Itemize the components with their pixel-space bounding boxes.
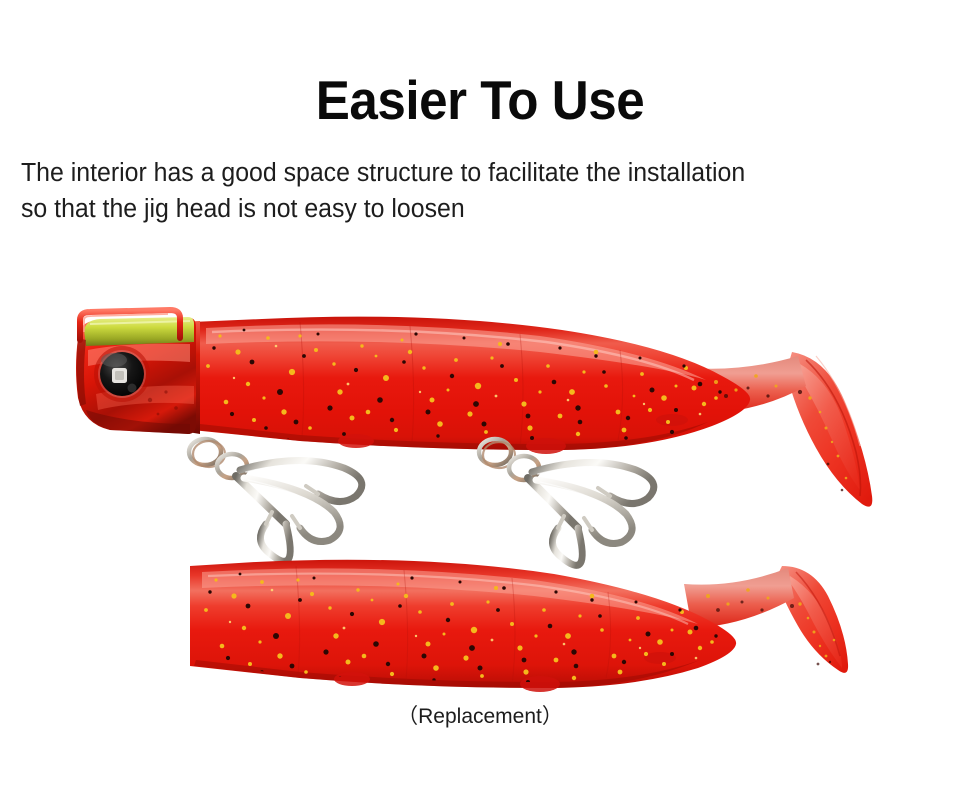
hook-barb-c-front	[266, 512, 272, 524]
product-infographic-page: Easier To Use The interior has a good sp…	[0, 0, 960, 810]
front-treble-hook	[189, 439, 362, 561]
hook-shank-front	[236, 476, 286, 524]
hook-point-c-rear	[552, 528, 582, 565]
head-shadow-bottom	[86, 410, 190, 434]
body-gloss-line-replacement	[208, 574, 688, 624]
eye-square-highlight	[112, 368, 127, 383]
paddle-tail-highlight-replacement	[788, 576, 842, 668]
body-segment-seams-replacement	[296, 566, 611, 685]
replacement-body-graphic	[190, 560, 848, 692]
paddle-tail-fold-replacement	[796, 572, 840, 656]
tail-dark-flakes	[724, 387, 843, 492]
belly-nub-tail	[656, 414, 688, 426]
body-bottom-shadow	[196, 422, 708, 450]
belly-nub-front	[338, 434, 374, 448]
description-line-1: The interior has a good space structure …	[21, 155, 923, 191]
hook-point-a-rear	[532, 462, 654, 503]
page-title: Easier To Use	[34, 72, 927, 128]
caudal-peduncle	[690, 356, 806, 414]
belly-nub-rear-replacement	[520, 676, 560, 692]
description-line-2: so that the jig head is not easy to loos…	[21, 191, 923, 227]
chartreuse-strip-gloss	[90, 321, 190, 324]
belly-nub-tail-replacement	[644, 652, 676, 664]
hook-point-b-front	[244, 478, 340, 542]
body-top-highlight	[206, 324, 706, 380]
belly-nub-rear	[526, 438, 566, 454]
page-description: The interior has a good space structure …	[21, 155, 923, 227]
eye-lower-reflection	[128, 384, 137, 393]
paddle-tail-fold-line	[806, 360, 861, 496]
hook-barb-c-rear	[558, 516, 564, 528]
hook-barb-a-rear	[598, 488, 610, 496]
head-speckles	[148, 390, 178, 415]
soft-body-shape	[192, 317, 750, 450]
replacement-caption: （Replacement）	[0, 700, 960, 730]
rear-treble-hook	[479, 439, 654, 565]
body-top-highlight-replacement	[202, 568, 698, 624]
hook-point-a-front	[240, 460, 362, 501]
paddle-tail-highlight	[798, 364, 860, 490]
tail-dark-flakes-replacement	[716, 601, 831, 666]
hook-barb-b-front	[292, 516, 300, 528]
body-segment-seams	[300, 322, 623, 447]
body-glitter-flakes	[206, 329, 722, 442]
eye-pupil	[100, 352, 144, 396]
paddle-tail-sheen	[816, 356, 860, 446]
eye-top-reflection	[101, 353, 127, 367]
paddle-tail-replacement	[776, 566, 848, 673]
belly-nub-front-replacement	[334, 672, 370, 686]
head-shell	[76, 318, 196, 434]
red-wire-line-tie-loop	[80, 310, 180, 340]
paddle-tail-assembled	[786, 352, 872, 507]
split-ring-rear	[479, 439, 511, 465]
hook-point-c-front	[260, 524, 290, 561]
tail-glitter-flakes-replacement	[706, 588, 835, 657]
caudal-peduncle-replacement	[684, 568, 794, 628]
eye-socket	[94, 346, 150, 402]
split-ring-front	[189, 439, 221, 465]
body-gloss-line	[212, 330, 694, 380]
head-gloss-top	[88, 344, 190, 366]
lure-body-assembled	[192, 317, 872, 507]
lure-eye	[94, 346, 150, 402]
head-gloss-lower	[96, 386, 194, 410]
hook-barb-b-rear	[584, 518, 592, 530]
jig-head	[76, 310, 200, 434]
hook-shank-rear	[528, 478, 578, 528]
eye-rim	[98, 350, 146, 398]
body-glitter-flakes-replacement	[204, 573, 718, 686]
body-bottom-shadow-replacement	[194, 660, 700, 688]
chartreuse-head-strip	[84, 317, 194, 346]
wire-loop-highlight	[84, 314, 168, 332]
head-collar	[171, 321, 200, 434]
tail-glitter-flakes	[714, 374, 847, 479]
assembled-lure-graphic	[76, 310, 872, 565]
head-edge-dark	[76, 338, 86, 406]
hook-point-b-rear	[536, 480, 632, 544]
hook-eye-ring-front	[217, 454, 247, 478]
hook-barb-a-front	[306, 486, 318, 494]
hook-eye-ring-rear	[509, 456, 539, 480]
soft-body-shape-replacement	[190, 560, 736, 688]
